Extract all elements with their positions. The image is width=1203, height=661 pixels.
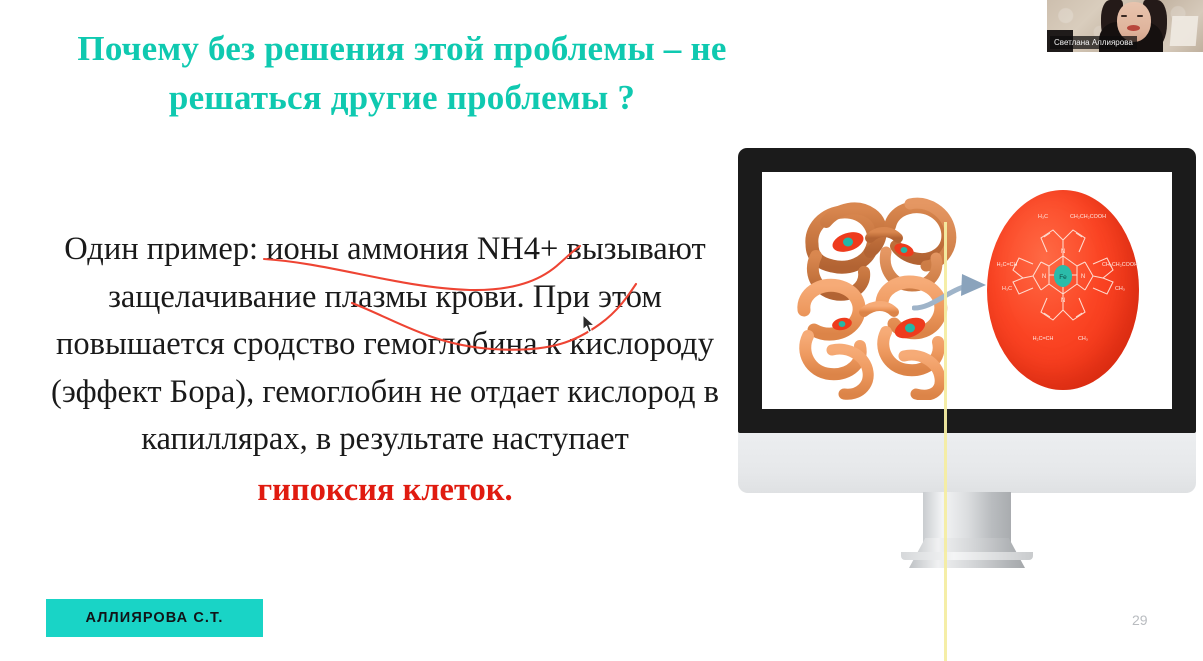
author-nameplate-label: АЛЛИЯРОВА С.Т.	[86, 610, 224, 626]
heme-label-bottom-right: CH₃	[1078, 336, 1088, 342]
slide-title: Почему без решения этой проблемы – не ре…	[62, 24, 742, 122]
heme-label-bottom-left: H₂C=CH	[1033, 336, 1054, 342]
red-blood-cell-illustration: N N N N Fe H₃C CH₂CH₂COOH H₂C=CH H₃C CH₂…	[987, 190, 1139, 390]
heme-fe-label: Fe	[1059, 274, 1067, 281]
heme-n-bottom: N	[1061, 298, 1065, 304]
webcam-person-eye-right	[1137, 15, 1143, 17]
monitor-illustration: N N N N Fe H₃C CH₂CH₂COOH H₂C=CH H₃C CH₂…	[738, 148, 1196, 448]
webcam-person-eye-left	[1121, 15, 1127, 17]
heme-label-left-upper: H₂C=CH	[997, 262, 1018, 268]
heme-n-top: N	[1061, 249, 1065, 255]
monitor-screen: N N N N Fe H₃C CH₂CH₂COOH H₂C=CH H₃C CH₂…	[762, 172, 1172, 409]
slide-body-text: Один пример: ионы аммония NH4+ вызывают …	[40, 226, 730, 514]
slide-number: 29	[1132, 612, 1148, 628]
laser-pointer-line	[944, 222, 947, 661]
monitor-chin	[738, 433, 1196, 493]
heme-label-right-lower: CH₃	[1115, 286, 1125, 292]
body-highlight-phrase: гипоксия клеток.	[257, 467, 512, 515]
callout-arrow-icon	[912, 264, 998, 312]
heme-label-right-upper: CH₂CH₂COOH	[1102, 262, 1138, 268]
heme-label-top-right: CH₂CH₂COOH	[1070, 214, 1106, 220]
author-nameplate: АЛЛИЯРОВА С.Т.	[46, 599, 263, 637]
mouse-pointer-icon	[582, 314, 596, 334]
webcam-person-lips	[1127, 25, 1140, 31]
webcam-video-tile[interactable]: Светлана Аллиярова	[1047, 0, 1203, 52]
webcam-participant-name: Светлана Аллиярова	[1050, 36, 1137, 49]
heme-label-top-left: H₃C	[1038, 214, 1048, 220]
monitor-stand-neck	[923, 492, 1011, 554]
webcam-background-object	[1170, 16, 1199, 46]
heme-n-left: N	[1042, 274, 1046, 280]
heme-n-right: N	[1081, 274, 1085, 280]
heme-label-left-lower: H₃C	[1002, 286, 1012, 292]
presentation-slide: Почему без решения этой проблемы – не ре…	[0, 0, 1203, 661]
monitor-stand-base	[901, 552, 1033, 560]
heme-structure-diagram: N N N N Fe H₃C CH₂CH₂COOH H₂C=CH H₃C CH₂…	[987, 190, 1139, 390]
body-paragraph: Один пример: ионы аммония NH4+ вызывают …	[51, 231, 719, 457]
